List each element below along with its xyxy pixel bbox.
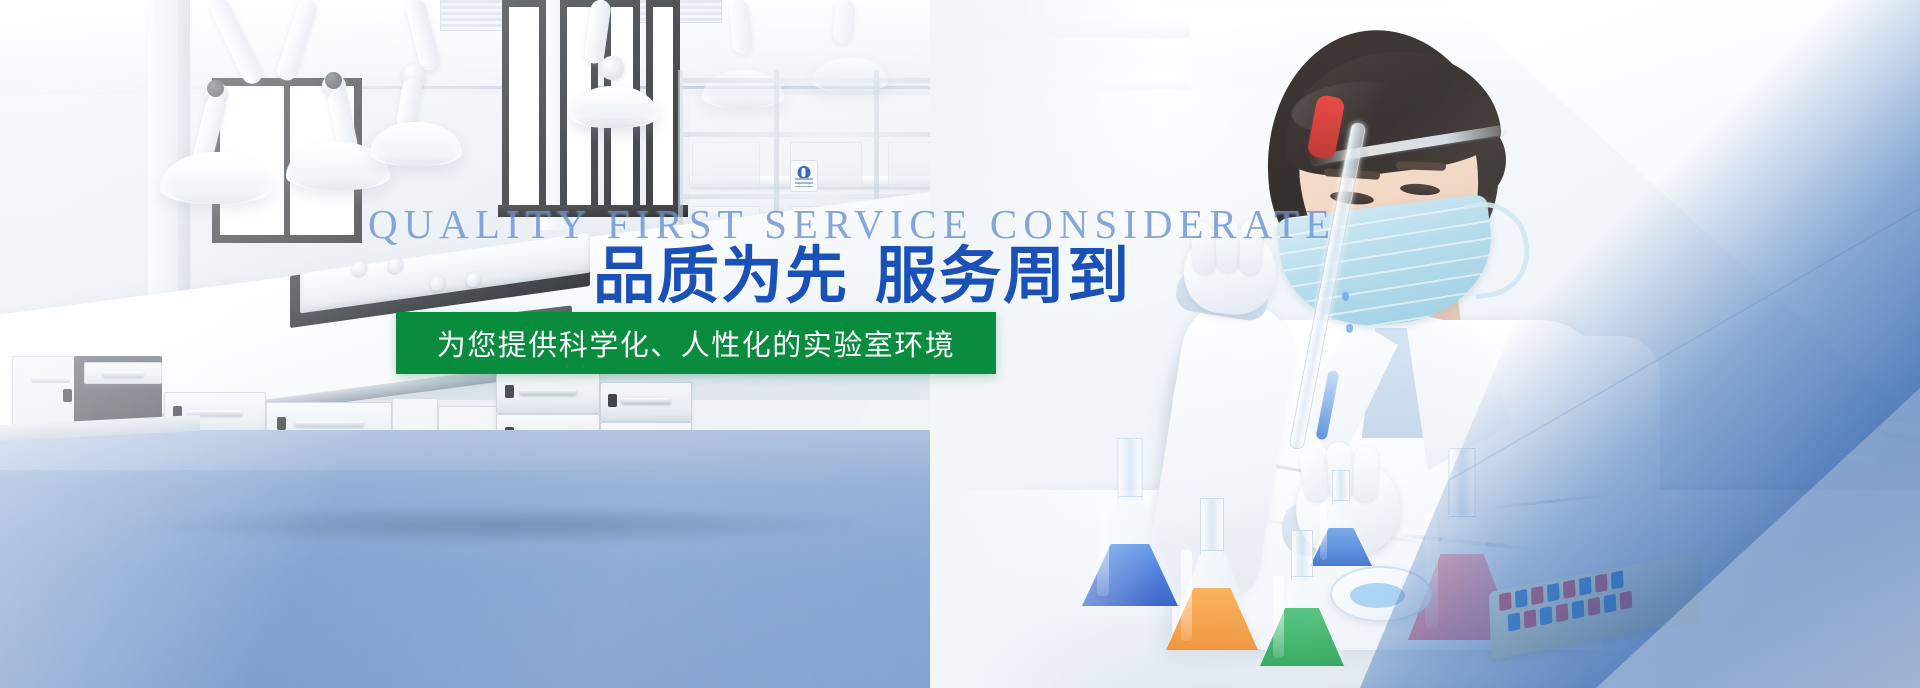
banner-headline: 品质为先服务周到 [593, 246, 1131, 308]
headline-part-left: 品质为先 [593, 242, 849, 311]
banner-ribbon-text: 为您提供科学化、人性化的实验室环境 [437, 322, 956, 364]
hero-banner: QUALITY FIRST SERVICE CONSIDERATE 品质为先服务… [0, 0, 1920, 688]
banner-eyebrow: QUALITY FIRST SERVICE CONSIDERATE [368, 200, 1336, 248]
banner-ribbon: 为您提供科学化、人性化的实验室环境 [396, 312, 996, 374]
headline-part-right: 服务周到 [875, 242, 1131, 311]
banner-copy: QUALITY FIRST SERVICE CONSIDERATE 品质为先服务… [0, 0, 1920, 688]
